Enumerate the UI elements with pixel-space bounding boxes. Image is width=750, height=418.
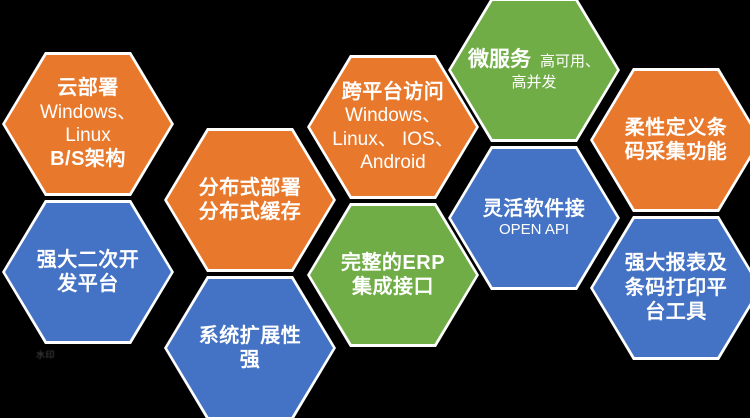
hex-label-secondary-development-platform: 强大二次开发平台 bbox=[5, 248, 171, 297]
hex-body-cloud-deployment: 云部署Windows、LinuxB/S架构 bbox=[5, 55, 171, 193]
hex-label-report-and-barcode-printing: 强大报表及条码打印平台工具 bbox=[593, 251, 750, 324]
hex-line-primary: 微服务 bbox=[468, 48, 531, 71]
hex-line: 台工具 bbox=[607, 300, 745, 324]
hex-line: 码采集功能 bbox=[607, 140, 745, 164]
hex-line: 系统扩展性 bbox=[181, 324, 319, 348]
hex-line: 强 bbox=[181, 348, 319, 372]
hex-cell-secondary-development-platform[interactable]: 强大二次开发平台 bbox=[2, 200, 174, 344]
hex-line: 强大报表及 bbox=[607, 251, 745, 275]
hex-line: 云部署 bbox=[19, 76, 157, 100]
hex-line: B/S架构 bbox=[19, 147, 157, 171]
hex-line: 分布式缓存 bbox=[181, 200, 319, 224]
hex-body-secondary-development-platform: 强大二次开发平台 bbox=[5, 203, 171, 341]
hex-body-report-and-barcode-printing: 强大报表及条码打印平台工具 bbox=[593, 219, 750, 357]
hex-line: 集成接口 bbox=[324, 275, 462, 299]
hex-line: 分布式部署 bbox=[181, 176, 319, 200]
hex-line: 完整的ERP bbox=[324, 251, 462, 275]
hex-line: Android bbox=[324, 151, 462, 174]
hex-line: 强大二次开 bbox=[19, 248, 157, 272]
honeycomb-diagram: 水印 云部署Windows、LinuxB/S架构分布式部署分布式缓存跨平台访问W… bbox=[0, 0, 750, 418]
watermark: 水印 bbox=[36, 348, 116, 362]
hex-line: 条码打印平 bbox=[607, 276, 745, 300]
hex-line: Linux bbox=[19, 124, 157, 147]
hex-cell-report-and-barcode-printing[interactable]: 强大报表及条码打印平台工具 bbox=[590, 216, 750, 360]
hex-line: Linux、 IOS、 bbox=[324, 128, 462, 151]
hex-cell-cloud-deployment[interactable]: 云部署Windows、LinuxB/S架构 bbox=[2, 52, 174, 196]
hex-label-cloud-deployment: 云部署Windows、LinuxB/S架构 bbox=[5, 76, 171, 171]
hex-line: 灵活软件接 bbox=[465, 197, 603, 221]
hex-line: 发平台 bbox=[19, 272, 157, 296]
hex-line: 跨平台访问 bbox=[324, 80, 462, 104]
hex-line: OPEN API bbox=[465, 221, 603, 239]
hex-line: Windows、 bbox=[324, 104, 462, 127]
hex-line: Windows、 bbox=[19, 101, 157, 124]
hex-line: 柔性定义条 bbox=[607, 116, 745, 140]
